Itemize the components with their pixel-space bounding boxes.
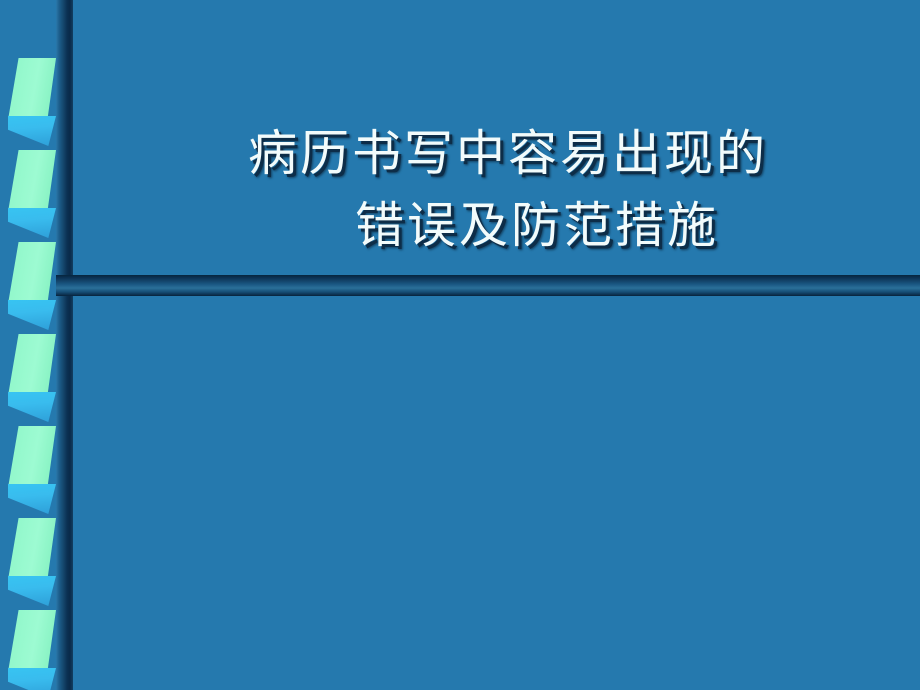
ribbon-face	[76, 114, 118, 176]
ribbon-segment	[76, 390, 118, 482]
ribbon-face	[76, 574, 118, 636]
ribbon-segment	[8, 58, 56, 150]
ribbon-segment	[76, 482, 118, 574]
ribbon-segment	[76, 574, 118, 666]
ribbon-face	[8, 242, 56, 304]
ribbon-segment	[76, 22, 118, 114]
ribbon-face	[8, 518, 56, 580]
ribbon-segment	[8, 426, 56, 518]
ribbon-face	[76, 482, 118, 544]
slide-title-line-1: 病历书写中容易出现的	[118, 118, 898, 190]
decorative-ribbon-left	[8, 0, 56, 690]
ribbon-fold	[8, 484, 56, 514]
vertical-rule	[56, 0, 73, 690]
ribbon-fold	[8, 116, 56, 146]
ribbon-face	[76, 298, 118, 360]
ribbon-segment	[8, 242, 56, 334]
ribbon-face	[76, 22, 118, 84]
ribbon-fold	[76, 80, 118, 110]
ribbon-segment	[8, 334, 56, 426]
ribbon-face	[8, 58, 56, 120]
ribbon-fold	[8, 668, 56, 690]
ribbon-face	[76, 666, 118, 690]
ribbon-face	[8, 610, 56, 672]
horizontal-rule	[56, 275, 920, 296]
ribbon-fold	[8, 392, 56, 422]
ribbon-fold	[8, 208, 56, 238]
decorative-ribbon-right-upper	[76, 0, 118, 276]
ribbon-segment	[76, 666, 118, 690]
ribbon-face	[8, 426, 56, 488]
ribbon-segment	[76, 114, 118, 206]
ribbon-face	[8, 334, 56, 396]
ribbon-segment	[76, 298, 118, 390]
ribbon-segment	[8, 518, 56, 610]
ribbon-fold	[76, 632, 118, 662]
ribbon-segment	[76, 206, 118, 276]
slide-body-placeholder	[118, 310, 900, 670]
ribbon-segment	[8, 150, 56, 242]
slide-title: 病历书写中容易出现的 错误及防范措施	[118, 118, 898, 262]
ribbon-face	[8, 150, 56, 212]
slide-title-line-2: 错误及防范措施	[118, 190, 898, 262]
ribbon-fold	[76, 540, 118, 570]
ribbon-fold	[8, 300, 56, 330]
ribbon-fold	[8, 576, 56, 606]
presentation-slide: 病历书写中容易出现的 错误及防范措施	[0, 0, 920, 690]
ribbon-face	[76, 390, 118, 452]
decorative-ribbon-right-lower	[76, 296, 118, 690]
ribbon-fold	[76, 356, 118, 386]
ribbon-fold	[76, 448, 118, 478]
ribbon-face	[76, 206, 118, 268]
ribbon-segment	[8, 610, 56, 690]
ribbon-fold	[76, 172, 118, 202]
